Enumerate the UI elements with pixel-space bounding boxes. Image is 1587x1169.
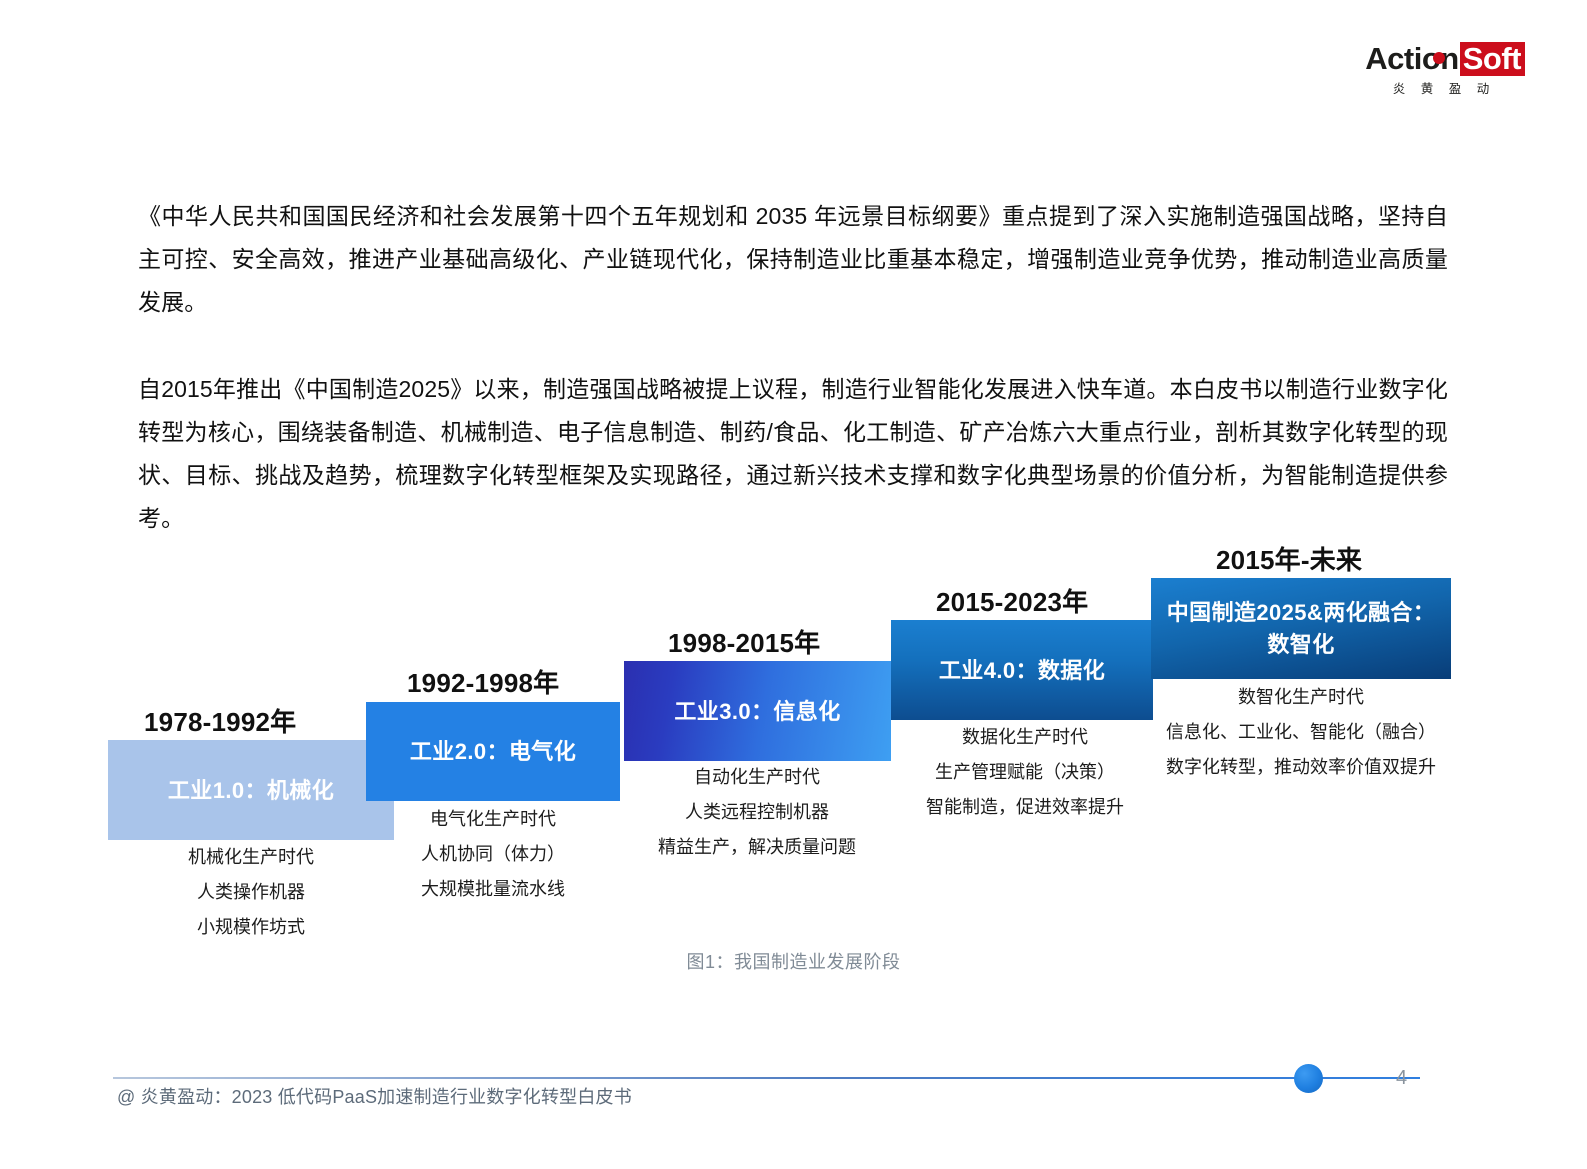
stage-5-title-line-2: 数智化 <box>1267 629 1334 661</box>
stage-1-box: 工业1.0：机械化 <box>108 740 394 840</box>
stage-2-desc-line-1: 电气化生产时代 <box>358 802 628 837</box>
stage-5-desc-line-3: 数字化转型，推动效率价值双提升 <box>1140 750 1462 785</box>
stage-3-title: 工业3.0：信息化 <box>674 696 840 727</box>
stage-4-title: 工业4.0：数据化 <box>939 655 1105 686</box>
stage-3-box: 工业3.0：信息化 <box>624 661 891 761</box>
logo-chinese-name: 炎 黄 盈 动 <box>1357 83 1531 96</box>
stage-5-title-line-1: 中国制造2025&两化融合： <box>1167 597 1435 629</box>
stage-2-box: 工业2.0：电气化 <box>366 702 620 801</box>
stage-4-desc-line-1: 数据化生产时代 <box>880 720 1170 755</box>
brand-logo: Action Soft 炎 黄 盈 动 <box>1357 42 1525 96</box>
stage-2-year-label: 1992-1998年 <box>407 663 559 700</box>
intro-paragraph-1: 《中华人民共和国国民经济和社会发展第十四个五年规划和 2035 年远景目标纲要》… <box>138 195 1448 324</box>
stage-5-description: 数智化生产时代 信息化、工业化、智能化（融合） 数字化转型，推动效率价值双提升 <box>1140 680 1462 785</box>
stage-1-desc-line-3: 小规模作坊式 <box>108 910 394 945</box>
logo-wordmark: Action Soft <box>1357 42 1525 76</box>
stage-2-desc-line-2: 人机协同（体力） <box>358 837 628 872</box>
stage-2-desc-line-3: 大规模批量流水线 <box>358 872 628 907</box>
stage-3-desc-line-2: 人类远程控制机器 <box>612 795 902 830</box>
stage-5-desc-line-1: 数智化生产时代 <box>1140 680 1462 715</box>
stage-2-title: 工业2.0：电气化 <box>410 736 576 767</box>
intro-paragraph-2: 自2015年推出《中国制造2025》以来，制造强国战略被提上议程，制造行业智能化… <box>138 368 1448 540</box>
footer-divider <box>113 1077 1420 1079</box>
footer-accent-dot-icon <box>1294 1064 1323 1093</box>
stage-3-year-label: 1998-2015年 <box>668 623 820 660</box>
stage-4-desc-line-3: 智能制造，促进效率提升 <box>880 790 1170 825</box>
logo-action-text: Action <box>1365 43 1458 74</box>
stage-3-description: 自动化生产时代 人类远程控制机器 精益生产，解决质量问题 <box>612 760 902 865</box>
footer-source-text: @ 炎黄盈动：2023 低代码PaaS加速制造行业数字化转型白皮书 <box>117 1083 632 1109</box>
stage-5-desc-line-2: 信息化、工业化、智能化（融合） <box>1140 715 1462 750</box>
stage-4-desc-line-2: 生产管理赋能（决策） <box>880 755 1170 790</box>
stage-5-box: 中国制造2025&两化融合： 数智化 <box>1151 578 1451 679</box>
stage-5-year-label: 2015年-未来 <box>1216 540 1362 577</box>
stage-1-desc-line-1: 机械化生产时代 <box>108 840 394 875</box>
stage-2-description: 电气化生产时代 人机协同（体力） 大规模批量流水线 <box>358 802 628 907</box>
stage-1-desc-line-2: 人类操作机器 <box>108 875 394 910</box>
stage-4-box: 工业4.0：数据化 <box>891 620 1153 720</box>
manufacturing-stages-timeline: 1978-1992年 工业1.0：机械化 机械化生产时代 人类操作机器 小规模作… <box>0 520 1587 940</box>
page-number: 4 <box>1396 1067 1407 1090</box>
stage-4-description: 数据化生产时代 生产管理赋能（决策） 智能制造，促进效率提升 <box>880 720 1170 825</box>
stage-1-description: 机械化生产时代 人类操作机器 小规模作坊式 <box>108 840 394 945</box>
stage-3-desc-line-3: 精益生产，解决质量问题 <box>612 830 902 865</box>
figure-caption: 图1：我国制造业发展阶段 <box>0 948 1587 974</box>
logo-soft-label: Soft <box>1460 42 1525 76</box>
stage-1-title: 工业1.0：机械化 <box>168 775 334 806</box>
stage-1-year-label: 1978-1992年 <box>144 702 296 739</box>
stage-3-desc-line-1: 自动化生产时代 <box>612 760 902 795</box>
stage-4-year-label: 2015-2023年 <box>936 582 1088 619</box>
